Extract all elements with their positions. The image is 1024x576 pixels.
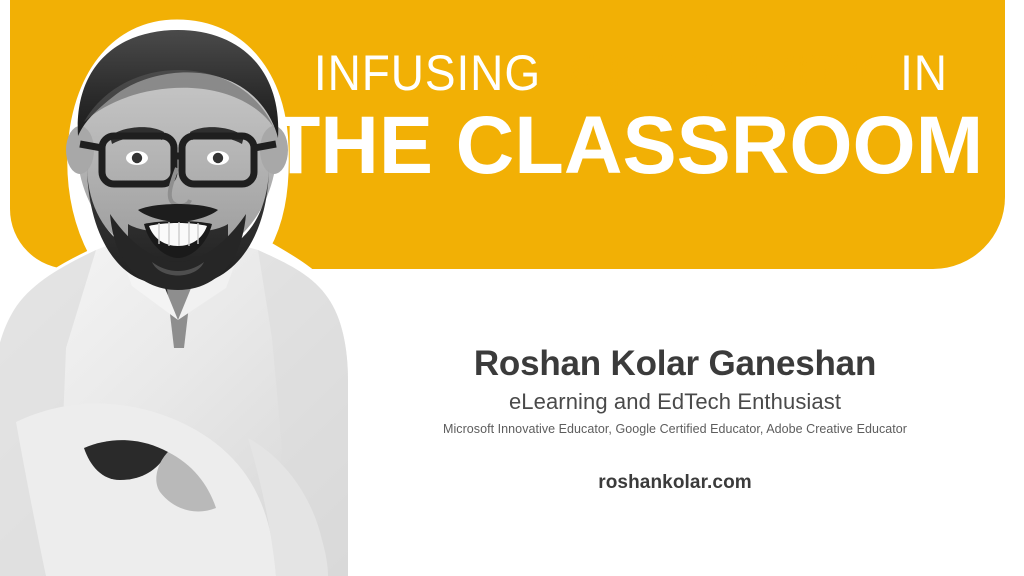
title-line-1: INFUSINGCREATIVITYIN	[262, 46, 992, 102]
speaker-portrait	[0, 18, 348, 576]
speaker-credentials: Microsoft Innovative Educator, Google Ce…	[368, 422, 982, 436]
speaker-name: Roshan Kolar Ganeshan	[368, 344, 982, 383]
title-line-2: THE CLASSROOM	[266, 106, 989, 186]
title-word-infusing: INFUSING	[314, 48, 541, 98]
title-word-creativity: CREATIVITY	[570, 46, 880, 99]
speaker-website[interactable]: roshankolar.com	[368, 472, 982, 494]
presentation-slide: INFUSINGCREATIVITYIN THE CLASSROOM	[0, 0, 1024, 576]
speaker-info: Roshan Kolar Ganeshan eLearning and EdTe…	[368, 344, 982, 494]
title-word-in: IN	[900, 48, 948, 98]
slide-title: INFUSINGCREATIVITYIN THE CLASSROOM	[262, 46, 992, 186]
speaker-role: eLearning and EdTech Enthusiast	[368, 389, 982, 415]
